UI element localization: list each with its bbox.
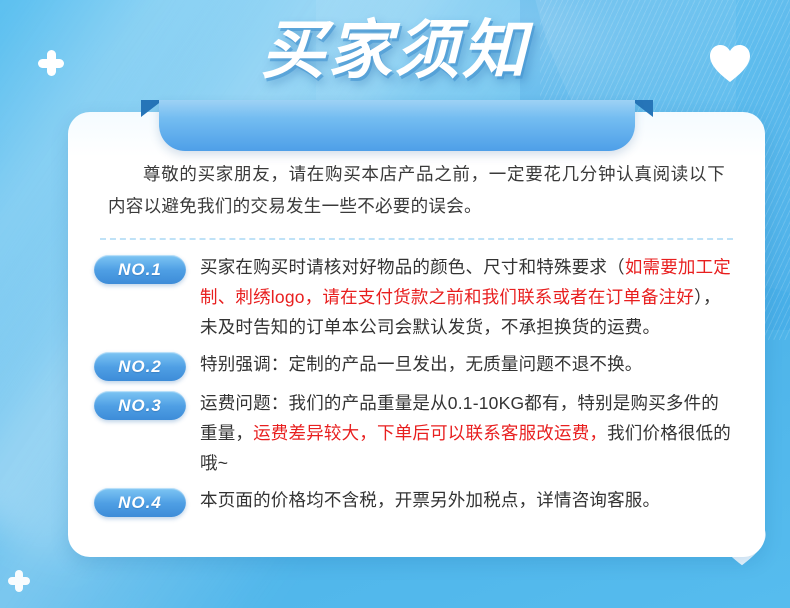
- plain-text: 本页面的价格均不含税，开票另外加税点，详情咨询客服。: [200, 490, 660, 510]
- highlighted-text: 运费差异较大，下单后可以联系客服改运费，: [253, 423, 607, 443]
- plus-icon: [8, 570, 30, 592]
- ribbon-body: [159, 100, 635, 151]
- content-card: 尊敬的买家朋友，请在购买本店产品之前，一定要花几分钟认真阅读以下内容以避免我们的…: [68, 112, 765, 557]
- notice-text: 特别强调：定制的产品一旦发出，无质量问题不退不换。: [200, 349, 731, 379]
- notice-item: NO.3运费问题：我们的产品重量是从0.1-10KG都有，特别是购买多件的重量，…: [94, 388, 731, 478]
- buyer-notice-poster: 尊敬的买家朋友，请在购买本店产品之前，一定要花几分钟认真阅读以下内容以避免我们的…: [0, 0, 790, 608]
- notice-badge: NO.2: [94, 352, 186, 381]
- plain-text: 买家在购买时请核对好物品的颜色、尺寸和特殊要求（: [200, 257, 625, 277]
- notice-item: NO.4本页面的价格均不含税，开票另外加税点，详情咨询客服。: [94, 485, 731, 517]
- notice-list: NO.1买家在购买时请核对好物品的颜色、尺寸和特殊要求（如需要加工定制、刺绣lo…: [68, 252, 765, 517]
- notice-badge: NO.4: [94, 488, 186, 517]
- dashed-divider: [100, 238, 733, 240]
- notice-badge: NO.3: [94, 391, 186, 420]
- notice-item: NO.2特别强调：定制的产品一旦发出，无质量问题不退不换。: [94, 349, 731, 381]
- notice-item: NO.1买家在购买时请核对好物品的颜色、尺寸和特殊要求（如需要加工定制、刺绣lo…: [94, 252, 731, 342]
- page-title: 买家须知: [0, 18, 790, 82]
- plain-text: 特别强调：定制的产品一旦发出，无质量问题不退不换。: [200, 354, 643, 374]
- intro-paragraph: 尊敬的买家朋友，请在购买本店产品之前，一定要花几分钟认真阅读以下内容以避免我们的…: [108, 158, 725, 222]
- notice-text: 本页面的价格均不含税，开票另外加税点，详情咨询客服。: [200, 485, 731, 515]
- notice-badge: NO.1: [94, 255, 186, 284]
- notice-text: 运费问题：我们的产品重量是从0.1-10KG都有，特别是购买多件的重量，运费差异…: [200, 388, 731, 478]
- card-inner: 尊敬的买家朋友，请在购买本店产品之前，一定要花几分钟认真阅读以下内容以避免我们的…: [68, 112, 765, 557]
- notice-text: 买家在购买时请核对好物品的颜色、尺寸和特殊要求（如需要加工定制、刺绣logo，请…: [200, 252, 731, 342]
- title-ribbon: [141, 100, 653, 152]
